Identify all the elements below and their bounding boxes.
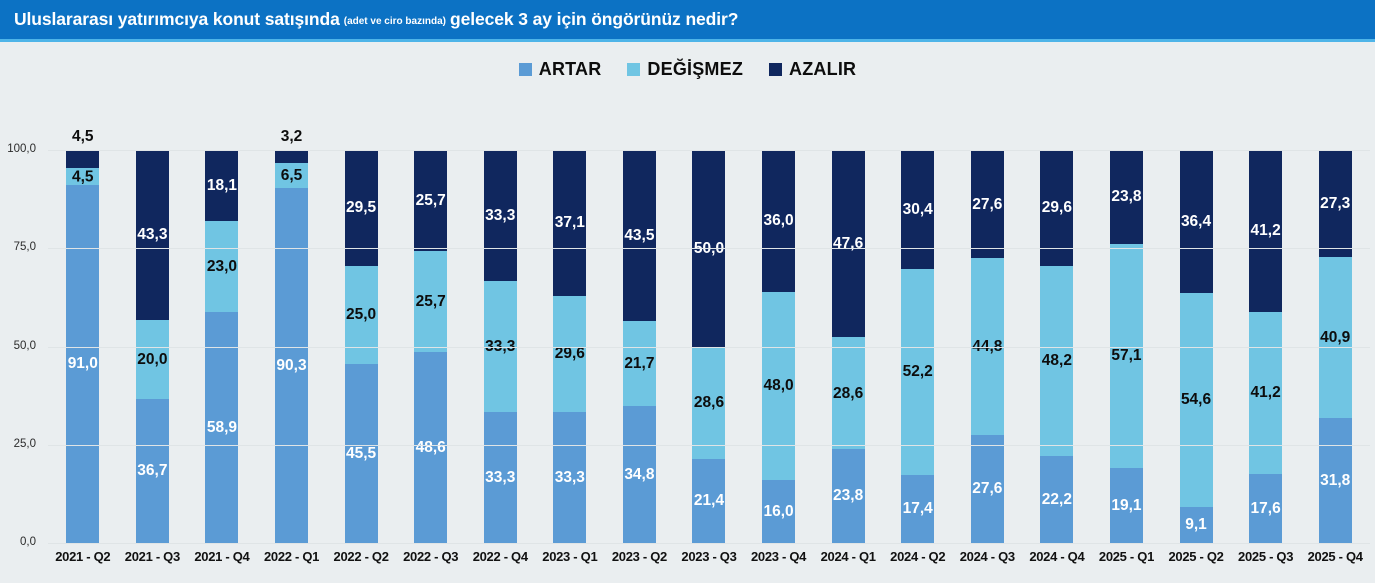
bar-segment-azalir[interactable]: 23,8 bbox=[1110, 150, 1143, 244]
bar-segment-azalir[interactable]: 36,4 bbox=[1180, 150, 1213, 293]
x-axis-tick-label: 2021 - Q4 bbox=[187, 549, 257, 575]
bar-segment-deği̇şmez[interactable]: 4,5 bbox=[66, 168, 99, 186]
bar-segment-deği̇şmez[interactable]: 29,6 bbox=[553, 296, 586, 412]
bar-value-label: 57,1 bbox=[1111, 348, 1141, 364]
bar-value-label: 19,1 bbox=[1111, 498, 1141, 514]
bar-value-label: 17,6 bbox=[1251, 501, 1281, 517]
bar-segment-azalir[interactable]: 3,2 bbox=[275, 150, 308, 163]
bar-value-label: 27,3 bbox=[1320, 196, 1350, 212]
bar-value-label: 20,0 bbox=[137, 352, 167, 368]
bar-segment-artar[interactable]: 45,5 bbox=[345, 364, 378, 543]
chart-plot-area: 4,54,591,043,320,036,718,123,058,93,26,5… bbox=[48, 150, 1370, 543]
y-axis-tick-label: 0,0 bbox=[0, 536, 36, 548]
bar-segment-azalir[interactable]: 37,1 bbox=[553, 150, 586, 296]
bar-value-label: 27,6 bbox=[972, 481, 1002, 497]
bar-segment-artar[interactable]: 34,8 bbox=[623, 406, 656, 543]
bar-value-label: 33,3 bbox=[485, 470, 515, 486]
bar-value-label: 33,3 bbox=[555, 470, 585, 486]
bar-value-label: 23,0 bbox=[207, 259, 237, 275]
bar-segment-azalir[interactable]: 27,6 bbox=[971, 150, 1004, 258]
gridline bbox=[48, 150, 1370, 151]
bar-value-label: 4,5 bbox=[72, 129, 94, 145]
bar-segment-artar[interactable]: 17,6 bbox=[1249, 474, 1282, 543]
bar-value-label: 21,7 bbox=[624, 356, 654, 372]
bar-segment-azalir[interactable]: 25,7 bbox=[414, 150, 447, 251]
bar-value-label: 41,2 bbox=[1251, 223, 1281, 239]
bar-segment-deği̇şmez[interactable]: 48,2 bbox=[1040, 266, 1073, 455]
bar-value-label: 36,0 bbox=[763, 213, 793, 229]
x-axis-tick-label: 2024 - Q4 bbox=[1022, 549, 1092, 575]
bar-segment-deği̇şmez[interactable]: 41,2 bbox=[1249, 312, 1282, 474]
bar-segment-artar[interactable]: 16,0 bbox=[762, 480, 795, 543]
bar-segment-azalir[interactable]: 27,3 bbox=[1319, 150, 1352, 257]
bar-value-label: 9,1 bbox=[1185, 517, 1207, 533]
x-axis-tick-label: 2021 - Q2 bbox=[48, 549, 118, 575]
bar-segment-azalir[interactable]: 33,3 bbox=[484, 150, 517, 281]
bar-value-label: 30,4 bbox=[903, 202, 933, 218]
bar-segment-deği̇şmez[interactable]: 28,6 bbox=[692, 347, 725, 459]
bar-value-label: 18,1 bbox=[207, 178, 237, 194]
bar-value-label: 21,4 bbox=[694, 493, 724, 509]
bar-segment-deği̇şmez[interactable]: 25,0 bbox=[345, 266, 378, 364]
bar-value-label: 36,7 bbox=[137, 463, 167, 479]
bar-value-label: 17,4 bbox=[903, 501, 933, 517]
bar-segment-azalir[interactable]: 4,5 bbox=[66, 150, 99, 168]
bar-value-label: 23,8 bbox=[833, 488, 863, 504]
legend-label: DEĞİŞMEZ bbox=[647, 59, 743, 80]
bar-value-label: 37,1 bbox=[555, 215, 585, 231]
gridline bbox=[48, 347, 1370, 348]
bar-value-label: 16,0 bbox=[763, 504, 793, 520]
bar-value-label: 29,6 bbox=[1042, 200, 1072, 216]
bar-segment-deği̇şmez[interactable]: 6,5 bbox=[275, 163, 308, 189]
bar-value-label: 33,3 bbox=[485, 208, 515, 224]
gridline bbox=[48, 445, 1370, 446]
bar-segment-deği̇şmez[interactable]: 25,7 bbox=[414, 251, 447, 352]
bar-value-label: 43,5 bbox=[624, 228, 654, 244]
square-swatch-icon bbox=[519, 63, 532, 76]
page-title-part1: Uluslararası yatırımcıya konut satışında bbox=[14, 9, 340, 30]
x-axis-tick-label: 2025 - Q2 bbox=[1161, 549, 1231, 575]
bar-segment-deği̇şmez[interactable]: 20,0 bbox=[136, 320, 169, 399]
bar-value-label: 45,5 bbox=[346, 446, 376, 462]
bar-value-label: 25,0 bbox=[346, 307, 376, 323]
page-title-subnote: (adet ve ciro bazında) bbox=[340, 16, 450, 27]
bar-value-label: 28,6 bbox=[694, 395, 724, 411]
bar-segment-artar[interactable]: 17,4 bbox=[901, 475, 934, 543]
gridline bbox=[48, 248, 1370, 249]
bar-segment-deği̇şmez[interactable]: 54,6 bbox=[1180, 293, 1213, 507]
bar-value-label: 25,7 bbox=[416, 294, 446, 310]
x-axis-tick-label: 2023 - Q4 bbox=[744, 549, 814, 575]
x-axis-tick-label: 2021 - Q3 bbox=[118, 549, 188, 575]
x-axis-tick-label: 2024 - Q2 bbox=[883, 549, 953, 575]
x-axis-tick-label: 2025 - Q4 bbox=[1300, 549, 1370, 575]
bar-segment-deği̇şmez[interactable]: 28,6 bbox=[832, 337, 865, 449]
bar-value-label: 54,6 bbox=[1181, 392, 1211, 408]
bar-value-label: 48,0 bbox=[763, 378, 793, 394]
bar-value-label: 48,6 bbox=[416, 440, 446, 456]
bar-value-label: 40,9 bbox=[1320, 330, 1350, 346]
bar-segment-artar[interactable]: 19,1 bbox=[1110, 468, 1143, 543]
y-axis-tick-label: 50,0 bbox=[0, 340, 36, 352]
bar-value-label: 22,2 bbox=[1042, 492, 1072, 508]
bar-segment-azalir[interactable]: 47,6 bbox=[832, 150, 865, 337]
bar-segment-azalir[interactable]: 36,0 bbox=[762, 150, 795, 291]
x-axis-tick-label: 2023 - Q1 bbox=[535, 549, 605, 575]
bar-value-label: 31,8 bbox=[1320, 473, 1350, 489]
chart-legend: ARTARDEĞİŞMEZAZALIR bbox=[0, 52, 1375, 86]
bar-segment-artar[interactable]: 36,7 bbox=[136, 399, 169, 543]
bar-value-label: 43,3 bbox=[137, 227, 167, 243]
x-axis-tick-label: 2025 - Q1 bbox=[1092, 549, 1162, 575]
page-header: Uluslararası yatırımcıya konut satışında… bbox=[0, 0, 1375, 39]
x-axis-tick-label: 2022 - Q4 bbox=[465, 549, 535, 575]
bar-segment-artar[interactable]: 23,8 bbox=[832, 449, 865, 543]
x-axis-tick-label: 2022 - Q1 bbox=[257, 549, 327, 575]
legend-label: ARTAR bbox=[539, 59, 602, 80]
bar-segment-artar[interactable]: 31,8 bbox=[1319, 418, 1352, 543]
x-axis-tick-label: 2023 - Q2 bbox=[605, 549, 675, 575]
bar-value-label: 34,8 bbox=[624, 467, 654, 483]
bar-segment-artar[interactable]: 21,4 bbox=[692, 459, 725, 543]
bar-segment-azalir[interactable]: 43,3 bbox=[136, 150, 169, 320]
x-axis-labels: 2021 - Q22021 - Q32021 - Q42022 - Q12022… bbox=[48, 549, 1370, 575]
chart-page: Uluslararası yatırımcıya konut satışında… bbox=[0, 0, 1375, 583]
x-axis-tick-label: 2024 - Q3 bbox=[953, 549, 1023, 575]
x-axis-tick-label: 2024 - Q1 bbox=[813, 549, 883, 575]
bar-segment-artar[interactable]: 33,3 bbox=[484, 412, 517, 543]
bar-segment-azalir[interactable]: 41,2 bbox=[1249, 150, 1282, 312]
bar-segment-artar[interactable]: 9,1 bbox=[1180, 507, 1213, 543]
square-swatch-icon bbox=[769, 63, 782, 76]
bar-segment-artar[interactable]: 91,0 bbox=[66, 185, 99, 543]
bar-value-label: 58,9 bbox=[207, 420, 237, 436]
bar-segment-artar[interactable]: 48,6 bbox=[414, 352, 447, 543]
bar-value-label: 6,5 bbox=[281, 168, 303, 184]
x-axis-tick-label: 2023 - Q3 bbox=[674, 549, 744, 575]
bar-value-label: 29,5 bbox=[346, 200, 376, 216]
legend-item-azalir[interactable]: AZALIR bbox=[769, 59, 856, 80]
bar-segment-azalir[interactable]: 43,5 bbox=[623, 150, 656, 321]
bar-segment-azalir[interactable]: 30,4 bbox=[901, 150, 934, 269]
bar-value-label: 41,2 bbox=[1251, 385, 1281, 401]
bar-value-label: 90,3 bbox=[276, 358, 306, 374]
bar-segment-deği̇şmez[interactable]: 48,0 bbox=[762, 292, 795, 481]
bar-value-label: 52,2 bbox=[903, 364, 933, 380]
legend-item-deği̇şmez[interactable]: DEĞİŞMEZ bbox=[627, 59, 743, 80]
bar-value-label: 3,2 bbox=[281, 129, 303, 145]
bar-value-label: 23,8 bbox=[1111, 189, 1141, 205]
bar-segment-azalir[interactable]: 18,1 bbox=[205, 150, 238, 221]
bar-segment-deği̇şmez[interactable]: 57,1 bbox=[1110, 244, 1143, 468]
x-axis-tick-label: 2022 - Q2 bbox=[326, 549, 396, 575]
gridline bbox=[48, 543, 1370, 544]
x-axis-tick-label: 2025 - Q3 bbox=[1231, 549, 1301, 575]
y-axis-tick-label: 100,0 bbox=[0, 143, 36, 155]
bar-segment-deği̇şmez[interactable]: 40,9 bbox=[1319, 257, 1352, 418]
bar-value-label: 48,2 bbox=[1042, 353, 1072, 369]
bar-segment-artar[interactable]: 27,6 bbox=[971, 435, 1004, 543]
square-swatch-icon bbox=[627, 63, 640, 76]
header-underline bbox=[0, 39, 1375, 42]
bar-value-label: 91,0 bbox=[68, 356, 98, 372]
bar-value-label: 27,6 bbox=[972, 197, 1002, 213]
bar-segment-artar[interactable]: 22,2 bbox=[1040, 456, 1073, 543]
bar-value-label: 4,5 bbox=[72, 169, 94, 185]
x-axis-tick-label: 2022 - Q3 bbox=[396, 549, 466, 575]
y-axis-tick-label: 25,0 bbox=[0, 438, 36, 450]
bar-segment-artar[interactable]: 90,3 bbox=[275, 188, 308, 543]
bar-value-label: 36,4 bbox=[1181, 214, 1211, 230]
bar-value-label: 29,6 bbox=[555, 346, 585, 362]
bar-value-label: 28,6 bbox=[833, 386, 863, 402]
page-title-part2: gelecek 3 ay için öngörünüz nedir? bbox=[450, 9, 738, 30]
legend-label: AZALIR bbox=[789, 59, 856, 80]
bar-value-label: 25,7 bbox=[416, 193, 446, 209]
y-axis-tick-label: 75,0 bbox=[0, 241, 36, 253]
bar-segment-deği̇şmez[interactable]: 21,7 bbox=[623, 321, 656, 406]
bar-segment-artar[interactable]: 33,3 bbox=[553, 412, 586, 543]
legend-item-artar[interactable]: ARTAR bbox=[519, 59, 602, 80]
bar-segment-deği̇şmez[interactable]: 23,0 bbox=[205, 221, 238, 311]
